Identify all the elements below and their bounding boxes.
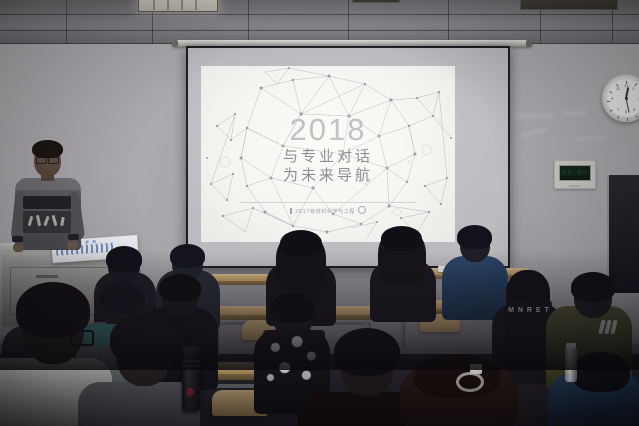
clock-numeral-11: 11 [616, 86, 620, 91]
slide-divider [241, 202, 415, 203]
panel-label: DISPLAY [555, 184, 595, 188]
panel-lcd-screen: 88:88 [559, 165, 591, 181]
clock-center-pin [625, 97, 628, 100]
clock-numeral-6: 6 [625, 109, 627, 114]
caption-tick-icon [290, 208, 292, 214]
ceiling-light-panel-off-right [520, 0, 618, 10]
thermos-logo [186, 388, 194, 396]
wall-control-panel[interactable]: 88:88 DISPLAY [554, 160, 596, 189]
slide-caption-row: 2017级材料科学与工程 [201, 206, 455, 215]
clock-numeral-7: 7 [617, 107, 619, 112]
slide-headline-2: 为未来导航 [201, 168, 455, 183]
ceiling-vent [352, 0, 400, 3]
room-shadow-gradient [0, 250, 639, 370]
presenter [10, 140, 96, 260]
presenter-hand-right [67, 241, 78, 250]
ceiling-light-panel [138, 0, 218, 12]
presenter-shirt-graphic [23, 211, 71, 233]
clock-numeral-9: 9 [611, 96, 613, 101]
clock-face: 12 3 6 9 1 11 7 5 [607, 79, 639, 117]
clock-numeral-5: 5 [633, 107, 635, 112]
slide-year: 2018 [201, 114, 455, 145]
slide-caption: 2017级材料科学与工程 [295, 209, 355, 215]
lecture-hall-photo: 2018 与专业对话 为未来导航 2017级材料科学与工程 12 [0, 0, 639, 426]
caption-ring-icon [358, 206, 366, 214]
panel-digits: 88:88 [560, 166, 590, 180]
clock-numeral-1: 1 [632, 86, 634, 91]
slide-headline-1: 与专业对话 [201, 149, 455, 164]
presenter-shirt-band [23, 196, 71, 209]
presenter-glasses [36, 156, 59, 162]
presentation-slide: 2018 与专业对话 为未来导航 2017级材料科学与工程 [201, 66, 455, 242]
slide-text-block: 2018 与专业对话 为未来导航 [201, 114, 455, 183]
